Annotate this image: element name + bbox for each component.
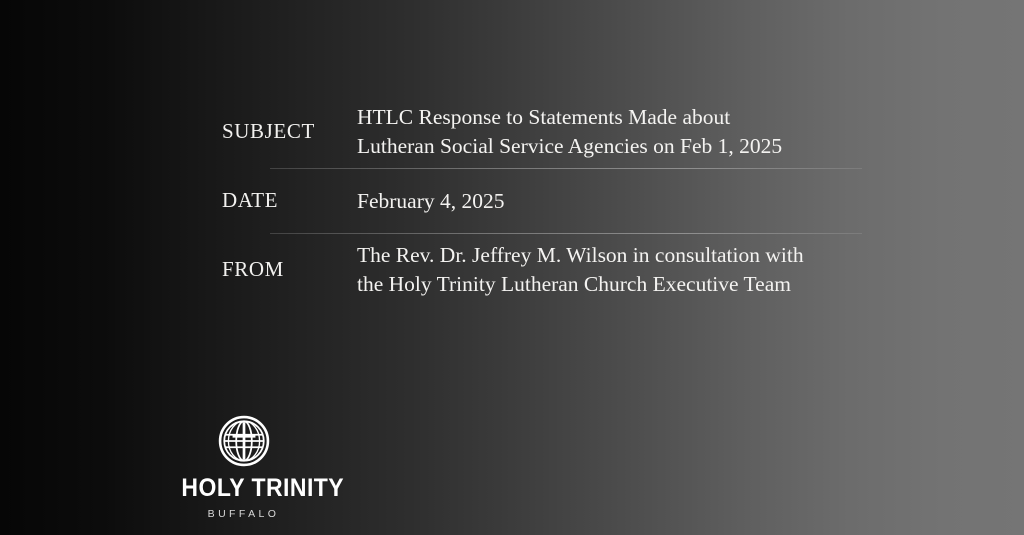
memo-value-from: The Rev. Dr. Jeffrey M. Wilson in consul… (357, 241, 862, 298)
memo-label-from: FROM (222, 257, 357, 282)
holy-trinity-logo: HOLY TRINITY BUFFALO (176, 415, 311, 520)
memo-row-date: DATE February 4, 2025 (222, 169, 862, 233)
memo-row-from: FROM The Rev. Dr. Jeffrey M. Wilson in c… (222, 234, 862, 306)
memo-slide: SUBJECT HTLC Response to Statements Made… (0, 0, 1024, 535)
globe-cross-emblem (218, 415, 270, 467)
memo-value-date: February 4, 2025 (357, 187, 862, 216)
logo-wordmark: HOLY TRINITY (181, 476, 305, 501)
logo-subtitle: BUFFALO (176, 508, 311, 520)
memo-header-block: SUBJECT HTLC Response to Statements Made… (222, 96, 862, 306)
memo-value-subject: HTLC Response to Statements Made about L… (357, 103, 862, 160)
memo-label-date: DATE (222, 188, 357, 213)
memo-label-subject: SUBJECT (222, 119, 357, 144)
memo-row-subject: SUBJECT HTLC Response to Statements Made… (222, 96, 862, 168)
